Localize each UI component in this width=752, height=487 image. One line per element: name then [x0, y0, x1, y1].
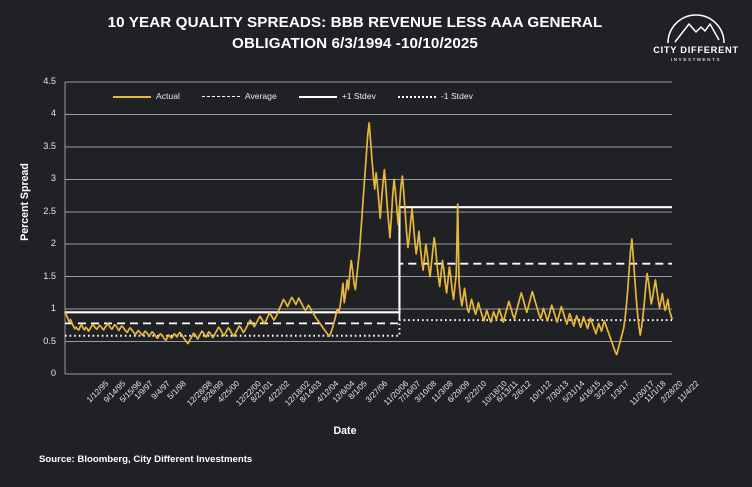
legend-item[interactable]: Actual	[113, 91, 180, 101]
legend-item[interactable]: -1 Stdev	[398, 91, 473, 101]
plus-1-stdev-line	[65, 207, 672, 312]
y-tick-label: 3	[26, 173, 56, 183]
y-tick-label: 0.5	[26, 336, 56, 346]
legend-item-label: -1 Stdev	[441, 91, 473, 101]
chart-plot-svg	[0, 0, 752, 487]
y-tick-label: 2.5	[26, 206, 56, 216]
plus-1-stdev-line-key-icon	[299, 92, 337, 101]
y-tick-label: 4	[26, 108, 56, 118]
actual-series-line	[65, 123, 672, 355]
average-line-key-icon	[202, 92, 240, 101]
y-tick-label: 0	[26, 368, 56, 378]
average-line	[65, 264, 672, 324]
actual-line-key-icon	[113, 92, 151, 101]
chart-legend: ActualAverage+1 Stdev-1 Stdev	[113, 91, 473, 101]
legend-item[interactable]: Average	[202, 91, 277, 101]
legend-item-label: Average	[245, 91, 277, 101]
legend-item-label: +1 Stdev	[342, 91, 376, 101]
y-tick-label: 1	[26, 303, 56, 313]
y-tick-label: 3.5	[26, 141, 56, 151]
source-note: Source: Bloomberg, City Different Invest…	[39, 454, 252, 465]
minus-1-stdev-line-key-icon	[398, 92, 436, 101]
chart-container: Percent Spread Date 00.511.522.533.544.5…	[0, 0, 752, 487]
y-tick-label: 4.5	[26, 76, 56, 86]
y-tick-label: 1.5	[26, 271, 56, 281]
y-tick-label: 2	[26, 238, 56, 248]
legend-item[interactable]: +1 Stdev	[299, 91, 376, 101]
x-axis-title: Date	[0, 425, 690, 437]
legend-item-label: Actual	[156, 91, 180, 101]
